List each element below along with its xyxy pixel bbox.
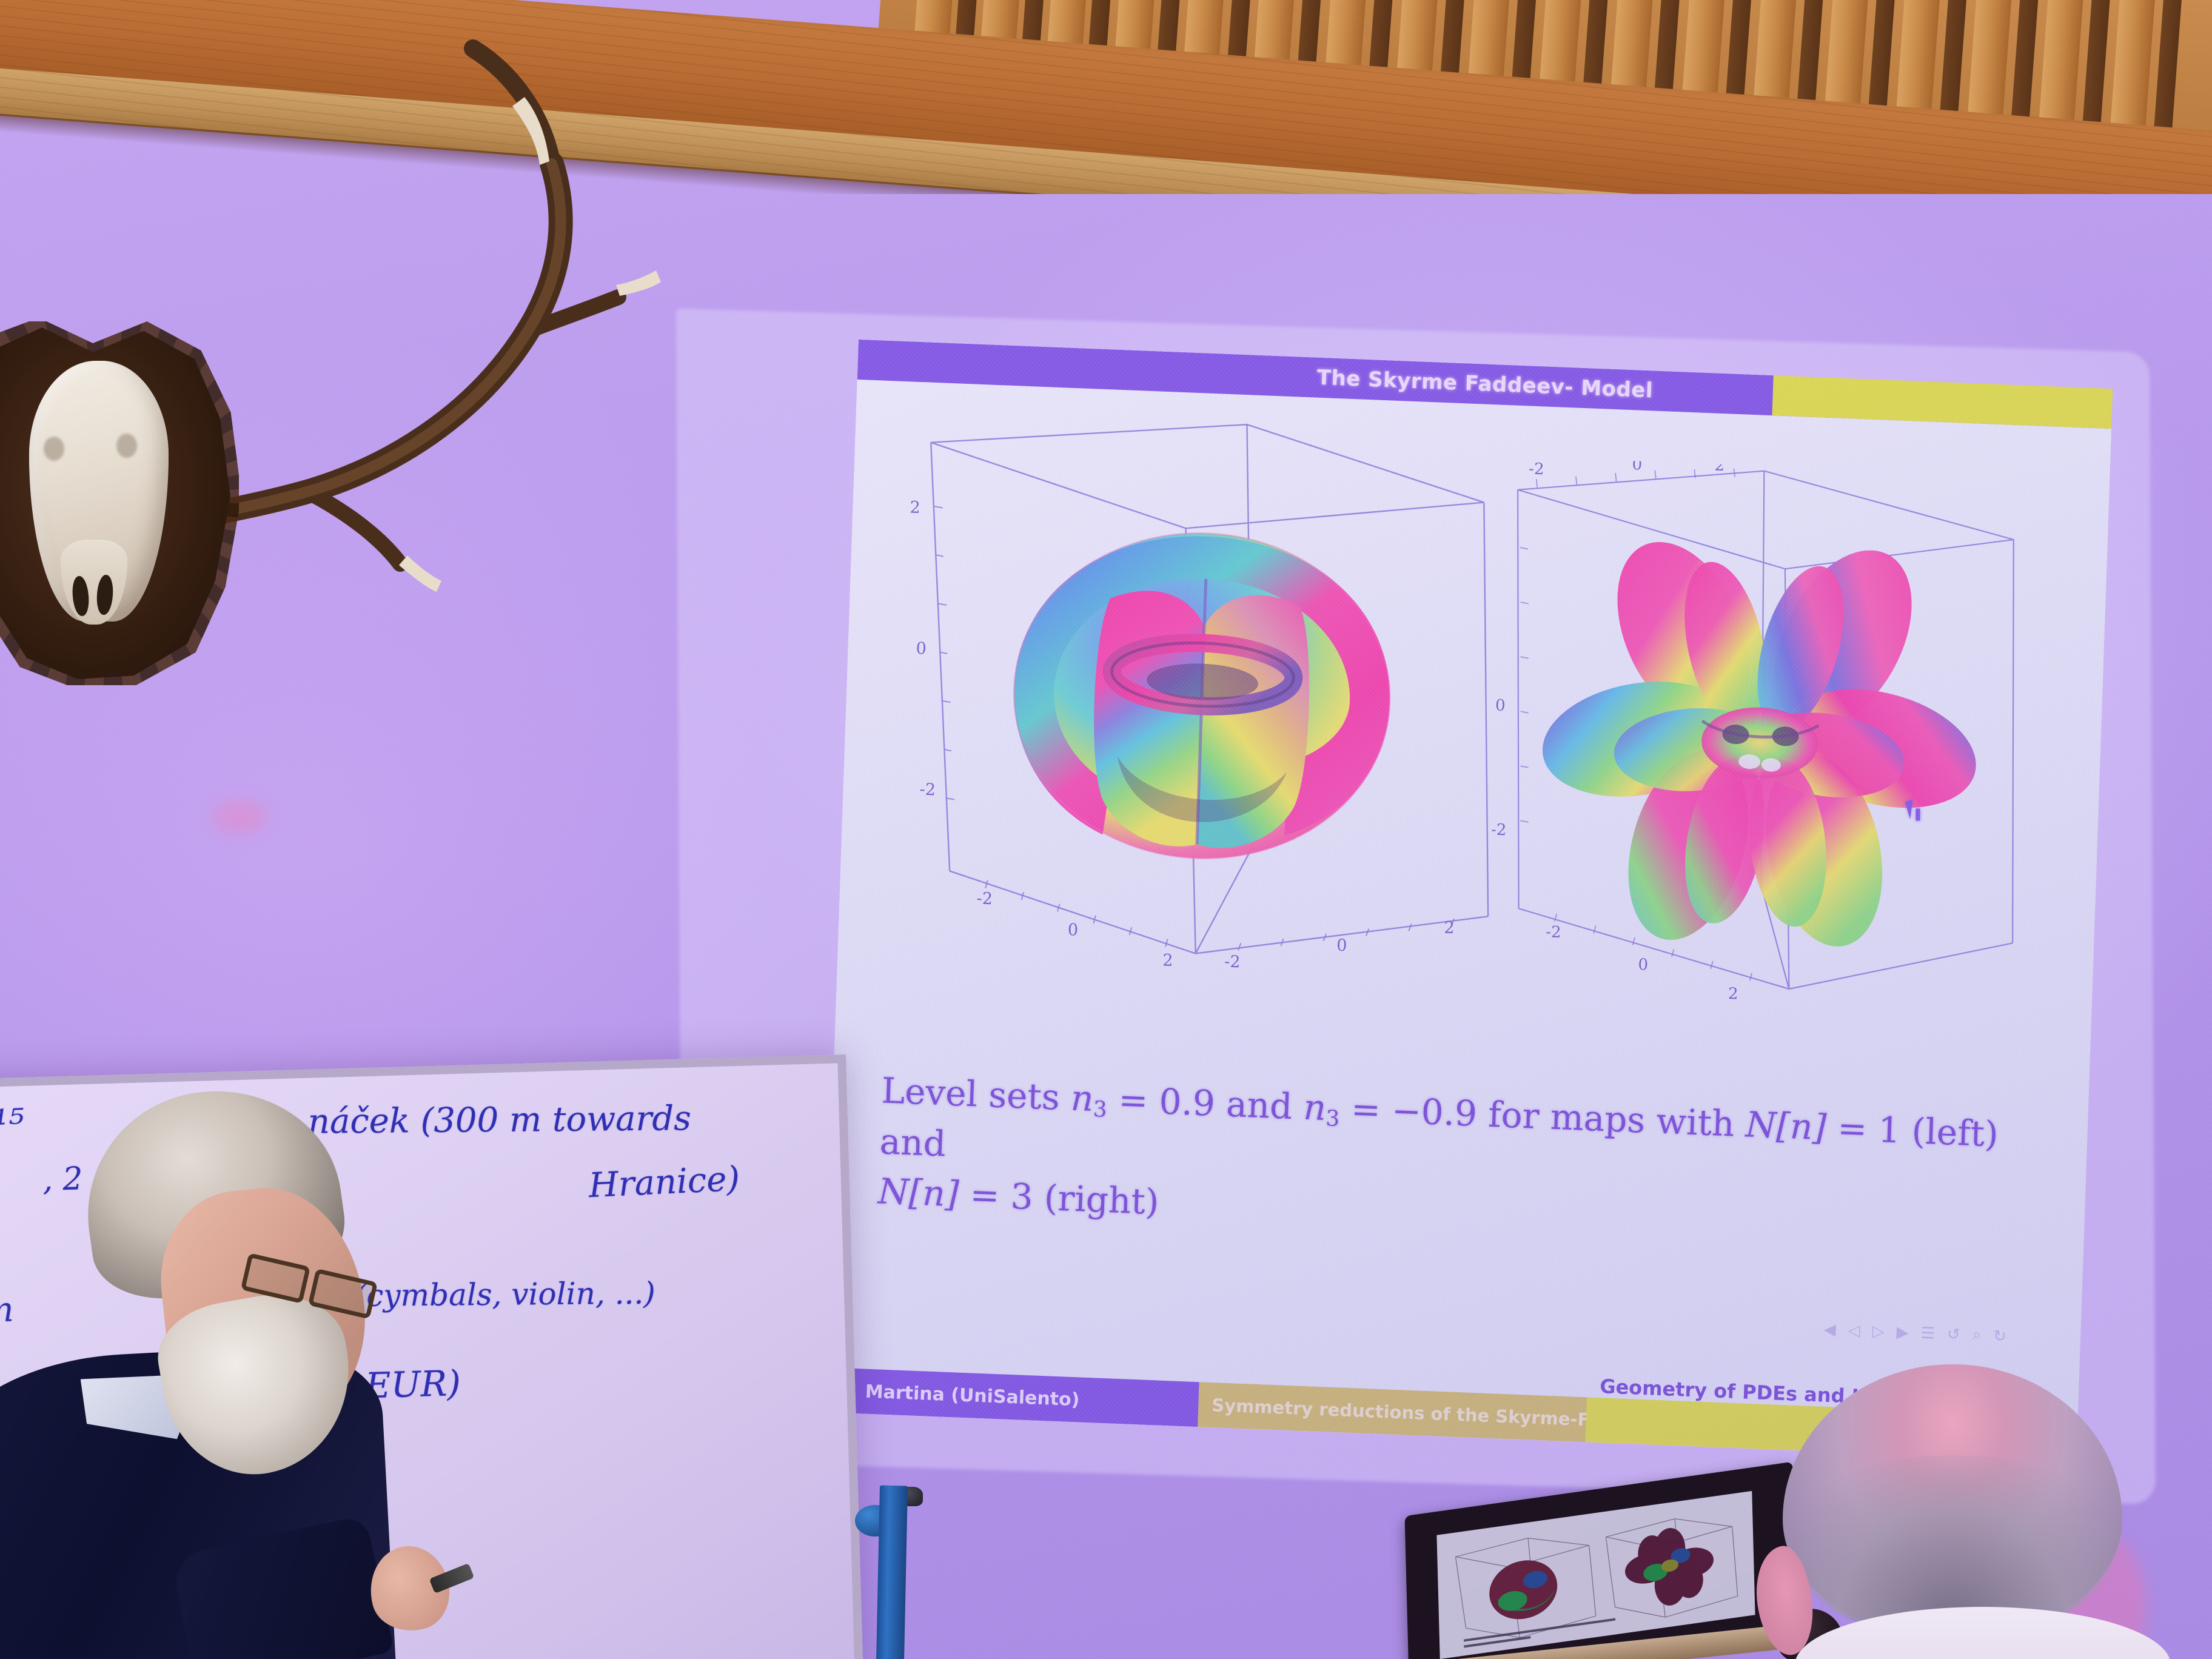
svg-text:2: 2 bbox=[1162, 951, 1173, 970]
caption-N1: N bbox=[1745, 1104, 1777, 1146]
caption-line2-arg: [n] bbox=[908, 1172, 960, 1215]
easel-post bbox=[876, 1486, 908, 1659]
svg-text:2: 2 bbox=[1714, 456, 1725, 475]
caption-eq2: = −0.9 for maps with bbox=[1339, 1088, 1746, 1145]
level-set-outer-left bbox=[1008, 526, 1395, 866]
caption-eq1: = 0.9 and bbox=[1107, 1079, 1304, 1128]
svg-text:-2: -2 bbox=[976, 889, 993, 908]
caption-n3-a-sub: 3 bbox=[1093, 1097, 1107, 1122]
audience-member bbox=[1758, 1364, 2207, 1659]
nav-prev-icon[interactable]: ◁ bbox=[1848, 1321, 1862, 1340]
projected-slide: The Skyrme Faddeev- Model bbox=[822, 340, 2113, 1461]
svg-text:-2: -2 bbox=[919, 780, 936, 799]
caption-n3-b-sub: 3 bbox=[1326, 1106, 1340, 1131]
svg-text:2: 2 bbox=[1728, 985, 1738, 1004]
whiteboard-line: Hranice) bbox=[588, 1159, 740, 1206]
caption-n3-b: n bbox=[1303, 1087, 1327, 1128]
nav-forward-icon[interactable]: ↻ bbox=[1993, 1326, 2008, 1346]
beamer-nav-symbols[interactable]: ◀ ◁ ▷ ▶ ☰ ↺ ⌕ ↻ bbox=[1571, 1307, 2008, 1348]
photo-scene: The Skyrme Faddeev- Model bbox=[0, 0, 2212, 1659]
svg-text:0: 0 bbox=[1495, 697, 1506, 716]
caption-N1-arg: [n] bbox=[1775, 1105, 1827, 1148]
svg-text:-2: -2 bbox=[1529, 460, 1544, 478]
slide-title: The Skyrme Faddeev- Model bbox=[1316, 366, 1653, 403]
svg-text:-2: -2 bbox=[1490, 820, 1506, 839]
slide-canvas: The Skyrme Faddeev- Model bbox=[822, 340, 2113, 1461]
svg-text:0: 0 bbox=[1336, 936, 1347, 956]
slide-figures: 2 0 -2 -2 0 2 -2 0 2 bbox=[834, 394, 2111, 1098]
nav-next-icon[interactable]: ▷ bbox=[1872, 1321, 1886, 1341]
nav-back-icon[interactable]: ↺ bbox=[1946, 1324, 1962, 1344]
svg-text:0: 0 bbox=[1638, 956, 1649, 974]
svg-text:-2: -2 bbox=[1224, 952, 1241, 971]
figure-left-hopf1: 2 0 -2 -2 0 2 -2 0 2 bbox=[853, 407, 1529, 1075]
figure-right-hopf3: -2 0 2 0 -2 -2 0 2 bbox=[1484, 456, 2086, 1073]
skull-eye-socket-left bbox=[44, 437, 64, 461]
svg-text:2: 2 bbox=[1444, 919, 1455, 938]
nav-toc-icon[interactable]: ☰ bbox=[1920, 1323, 1936, 1342]
caption-line2-val: = 3 (right) bbox=[958, 1174, 1159, 1223]
caption-n3-a: n bbox=[1070, 1078, 1094, 1119]
svg-text:0: 0 bbox=[916, 639, 927, 659]
figure-caption: Level sets n3 = 0.9 and n3 = −0.9 for ma… bbox=[877, 1065, 2022, 1261]
mounted-deer-skull bbox=[0, 236, 315, 697]
caption-pre: Level sets bbox=[881, 1070, 1072, 1118]
level-set-flower-right bbox=[1525, 515, 1995, 965]
svg-text:0: 0 bbox=[1067, 920, 1078, 940]
caption-line2-N: N bbox=[877, 1171, 910, 1213]
skull-eye-socket-right bbox=[116, 434, 137, 458]
presenter bbox=[0, 1085, 455, 1659]
nav-search-icon[interactable]: ⌕ bbox=[1972, 1325, 1983, 1345]
wall-smudge bbox=[212, 800, 267, 834]
svg-text:-2: -2 bbox=[1546, 923, 1561, 942]
svg-text:2: 2 bbox=[910, 498, 920, 517]
svg-text:0: 0 bbox=[1632, 456, 1643, 474]
nav-first-icon[interactable]: ◀ bbox=[1823, 1319, 1837, 1339]
nav-last-icon[interactable]: ▶ bbox=[1896, 1322, 1910, 1342]
